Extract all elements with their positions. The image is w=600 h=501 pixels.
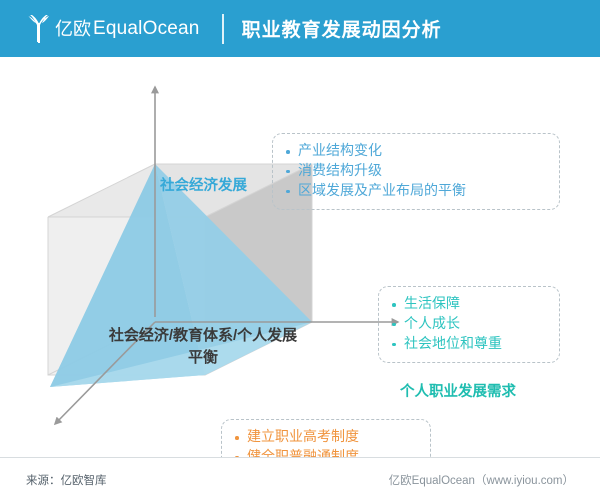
center-balance-label: 社会经济/教育体系/个人发展 平衡 — [58, 325, 348, 369]
yiou-tree-logo-icon — [26, 14, 52, 44]
callout-social-economic: 产业结构变化 消费结构升级 区域发展及产业布局的平衡 — [272, 133, 560, 210]
page-header: 亿欧 EqualOcean 职业教育发展动因分析 — [0, 0, 600, 57]
callout-item: 消费结构升级 — [285, 161, 547, 181]
callout-item: 社会地位和尊重 — [391, 334, 547, 354]
footer-source-text: 来源：亿欧智库 — [26, 472, 107, 488]
footer-site-text: 亿欧EqualOcean（www.iyiou.com） — [389, 472, 574, 488]
page-footer: 来源：亿欧智库 亿欧EqualOcean（www.iyiou.com） — [0, 457, 600, 501]
callout-item: 产业结构变化 — [285, 141, 547, 161]
axis-label-personal-career: 个人职业发展需求 — [400, 380, 516, 401]
callout-personal-career: 生活保障 个人成长 社会地位和尊重 — [378, 286, 560, 363]
callout-item: 区域发展及产业布局的平衡 — [285, 181, 547, 201]
logo-text-en: EqualOcean — [93, 19, 200, 38]
center-label-line1: 社会经济/教育体系/个人发展 — [58, 325, 348, 347]
axis-label-social-economic: 社会经济发展 — [160, 174, 247, 195]
diagram-canvas: 社会经济发展 个人职业发展需求 职业教育体系建设 社会经济/教育体系/个人发展 … — [0, 57, 600, 457]
page-title: 职业教育发展动因分析 — [242, 15, 442, 42]
center-label-line2: 平衡 — [58, 347, 348, 369]
callout-item: 建立职业高考制度 — [234, 427, 418, 447]
brand-logo[interactable]: 亿欧 EqualOcean — [26, 14, 200, 44]
header-divider — [222, 14, 224, 44]
callout-item: 个人成长 — [391, 314, 547, 334]
callout-item: 生活保障 — [391, 294, 547, 314]
logo-text-cn: 亿欧 — [55, 20, 91, 38]
